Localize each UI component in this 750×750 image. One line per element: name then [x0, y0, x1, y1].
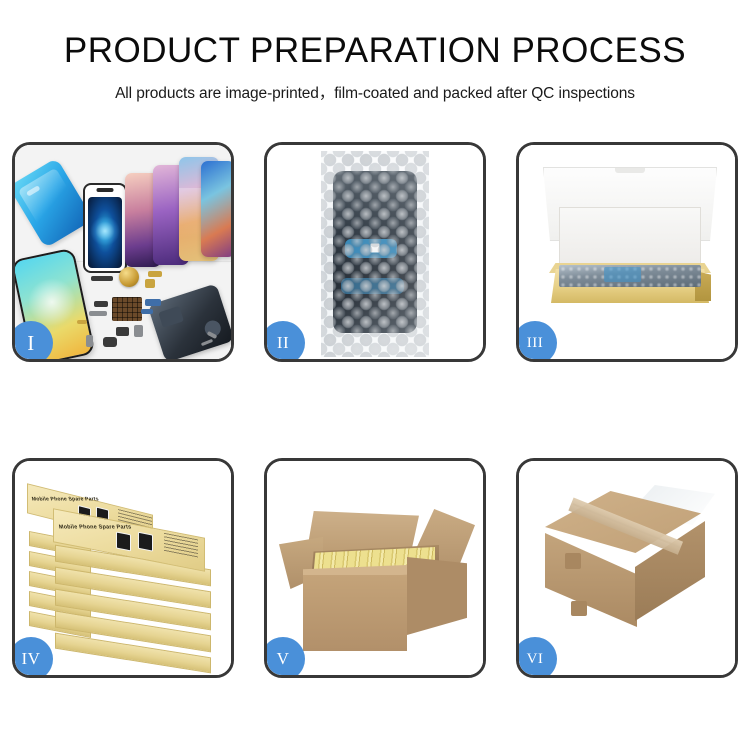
- sealed-carton-scene: [519, 461, 735, 675]
- product-preparation-process-page: PRODUCT PREPARATION PROCESS All products…: [0, 0, 750, 750]
- box-phone-image-d: [138, 532, 153, 552]
- glass-panel-icon: [83, 183, 127, 273]
- sim-tray-part-icon: [134, 325, 143, 337]
- film-sheen: [267, 145, 483, 359]
- speaker-coil-icon: [119, 267, 139, 287]
- step-panel-2: II: [264, 142, 486, 362]
- carton-tab-upper-icon: [565, 553, 581, 569]
- wallpaper-icon: [88, 197, 122, 268]
- step-image-2: II: [267, 145, 483, 359]
- step-image-6: VI: [519, 461, 735, 675]
- open-carton-scene: [267, 461, 483, 675]
- step-panel-4: Mobile Phone Spare Parts Mobile Phone Sp…: [12, 458, 234, 678]
- box-label-back: Mobile Phone Spare Parts: [31, 496, 99, 502]
- phone-display-d-icon: [201, 161, 231, 257]
- step-panel-1: I: [12, 142, 234, 362]
- step-panel-3: III: [516, 142, 738, 362]
- step-image-3: III: [519, 145, 735, 359]
- carton-tab-lower-icon: [571, 601, 587, 616]
- carton-right-face-icon: [407, 557, 467, 635]
- flex-connector-part-icon: [145, 279, 155, 288]
- carton-front-face-icon: [303, 575, 407, 651]
- box-checklist-front: [164, 533, 198, 560]
- retail-box-stack: Mobile Phone Spare Parts Mobile Phone Sp…: [15, 461, 231, 675]
- boxed-product-icon: [559, 265, 701, 287]
- step-image-4: Mobile Phone Spare Parts Mobile Phone Sp…: [15, 461, 231, 675]
- page-subtitle: All products are image-printed，film-coat…: [0, 81, 750, 103]
- flex-cable-part-icon: [148, 271, 162, 277]
- step-panel-6: VI: [516, 458, 738, 678]
- step-panel-5: V: [264, 458, 486, 678]
- shield-part-icon: [89, 311, 107, 316]
- notch-icon: [97, 188, 114, 192]
- ribbon-cable-part-icon: [145, 299, 161, 306]
- connector-grid-icon: [112, 297, 142, 321]
- step-image-1: I: [15, 145, 231, 359]
- bracket-part-icon: [94, 301, 108, 307]
- small-cable-part-icon: [77, 320, 87, 324]
- page-header: PRODUCT PREPARATION PROCESS All products…: [0, 0, 750, 103]
- step-image-5: V: [267, 461, 483, 675]
- earpiece-part-icon: [91, 276, 113, 281]
- button-part-icon: [116, 327, 129, 336]
- box-phone-image-c: [116, 531, 131, 551]
- page-title: PRODUCT PREPARATION PROCESS: [0, 33, 750, 70]
- mailer-box-scene: [519, 145, 735, 359]
- screw-part-icon: [86, 335, 93, 347]
- box-label-front: Mobile Phone Spare Parts: [58, 524, 132, 530]
- vibrator-part-icon: [103, 337, 117, 347]
- ribbon-cable-2-part-icon: [141, 309, 153, 314]
- process-step-grid: I II: [12, 142, 738, 678]
